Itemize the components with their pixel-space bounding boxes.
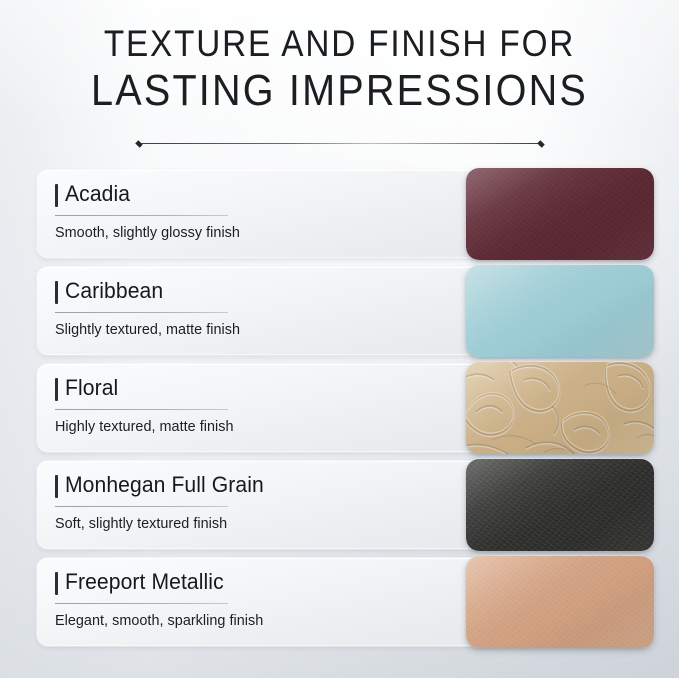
caribbean-light-blue-swatch[interactable]: [466, 265, 654, 357]
swatch-gloss-overlay: [466, 265, 654, 357]
accent-bar-icon: [55, 475, 58, 498]
swatch-description: Elegant, smooth, sparkling finish: [55, 612, 263, 629]
swatch-gloss-overlay: [466, 168, 654, 260]
swatch-row[interactable]: CaribbeanSlightly textured, matte finish: [0, 265, 679, 362]
swatch-description: Smooth, slightly glossy finish: [55, 224, 240, 241]
swatch-gloss-overlay: [466, 556, 654, 648]
swatch-name: Floral: [65, 375, 118, 401]
swatch-description: Soft, slightly textured finish: [55, 515, 227, 532]
floral-tan-embossed-swatch[interactable]: [466, 362, 654, 454]
poster-header: TEXTURE AND FINISH FOR LASTING IMPRESSIO…: [0, 22, 679, 116]
diamond-left-icon: [135, 140, 143, 148]
swatch-name: Monhegan Full Grain: [65, 472, 264, 498]
poster-title-line-1: TEXTURE AND FINISH FOR: [34, 22, 645, 66]
swatch-row[interactable]: Monhegan Full GrainSoft, slightly textur…: [0, 459, 679, 556]
accent-bar-icon: [55, 184, 58, 207]
accent-bar-icon: [55, 378, 58, 401]
accent-bar-icon: [55, 281, 58, 304]
name-underline: [55, 506, 228, 507]
swatch-description: Highly textured, matte finish: [55, 418, 234, 435]
monhegan-black-swatch[interactable]: [466, 459, 654, 551]
name-underline: [55, 603, 228, 604]
swatch-list: AcadiaSmooth, slightly glossy finishCari…: [0, 168, 679, 653]
swatch-name: Freeport Metallic: [65, 569, 224, 595]
swatch-gloss-overlay: [466, 459, 654, 551]
acadia-burgundy-swatch[interactable]: [466, 168, 654, 260]
freeport-metallic-rose-swatch[interactable]: [466, 556, 654, 648]
swatch-row[interactable]: FloralHighly textured, matte finish: [0, 362, 679, 459]
poster-title-line-2: LASTING IMPRESSIONS: [34, 66, 645, 116]
texture-finish-poster: TEXTURE AND FINISH FOR LASTING IMPRESSIO…: [0, 0, 679, 678]
swatch-row[interactable]: AcadiaSmooth, slightly glossy finish: [0, 168, 679, 265]
accent-bar-icon: [55, 572, 58, 595]
swatch-name: Acadia: [65, 181, 130, 207]
swatch-row[interactable]: Freeport MetallicElegant, smooth, sparkl…: [0, 556, 679, 653]
diamond-right-icon: [537, 140, 545, 148]
name-underline: [55, 409, 228, 410]
swatch-gloss-overlay: [466, 362, 654, 454]
name-underline: [55, 215, 228, 216]
swatch-description: Slightly textured, matte finish: [55, 321, 240, 338]
name-underline: [55, 312, 228, 313]
diamond-divider: [135, 139, 545, 148]
divider-line: [141, 143, 539, 144]
swatch-name: Caribbean: [65, 278, 163, 304]
